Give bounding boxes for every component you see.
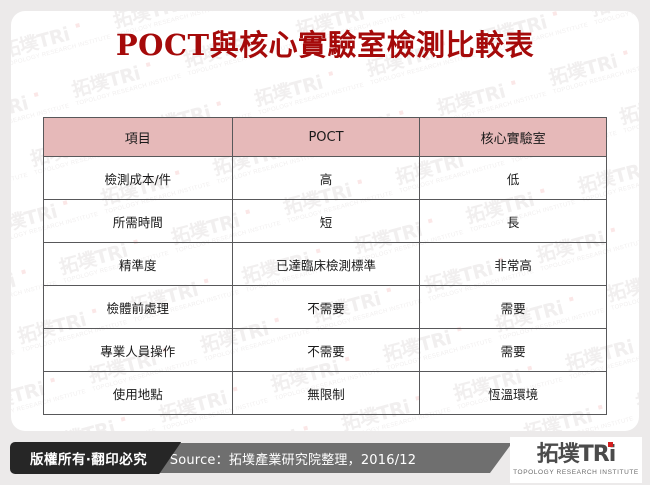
cell-item: 檢測成本/件 [44,157,233,200]
watermark-logo-icon: 拓墣TRiTOPOLOGY RESEARCH INSTITUTE [406,11,525,17]
cell-item: 檢體前處理 [44,286,233,329]
table-body: 檢測成本/件 高 低 所需時間 短 長 精準度 已達臨床檢測標準 非常高 檢體前… [44,157,607,415]
slide: 拓墣TRiTOPOLOGY RESEARCH INSTITUTE拓墣TRiTOP… [0,0,650,485]
table-row: 所需時間 短 長 [44,200,607,243]
cell-item: 使用地點 [44,372,233,415]
cell-poct: 無限制 [232,372,420,415]
column-header-core-lab: 核心實驗室 [420,118,607,157]
comparison-table: 項目 POCT 核心實驗室 檢測成本/件 高 低 所需時間 短 長 精準度 已達… [43,117,607,415]
cell-core-lab: 長 [420,200,607,243]
watermark-logo-icon: 拓墣TRiTOPOLOGY RESEARCH INSTITUTE [410,425,529,431]
cell-poct: 不需要 [232,286,420,329]
tri-logo: 拓墣TRi TOPOLOGY RESEARCH INSTITUTE [510,437,642,483]
cell-item: 所需時間 [44,200,233,243]
footer: Source：拓墣產業研究院整理，2016/12 版權所有‧翻印必究 拓墣TRi… [0,437,650,485]
table-row: 使用地點 無限制 恆溫環境 [44,372,607,415]
table-row: 精準度 已達臨床檢測標準 非常高 [44,243,607,286]
cell-poct: 已達臨床檢測標準 [232,243,420,286]
column-header-poct: POCT [232,118,420,157]
table-row: 專業人員操作 不需要 需要 [44,329,607,372]
cell-core-lab: 非常高 [420,243,607,286]
logo-wordmark: 拓墣TRi [537,444,616,466]
table-row: 檢體前處理 不需要 需要 [44,286,607,329]
watermark-logo-icon: 拓墣TRiTOPOLOGY RESEARCH INSTITUTE [618,80,639,135]
table-header: 項目 POCT 核心實驗室 [44,118,607,157]
logo-subtitle: TOPOLOGY RESEARCH INSTITUTE [513,469,639,476]
page-title: POCT與核心實驗室檢測比較表 [0,22,650,64]
source-text: Source：拓墣產業研究院整理，2016/12 [170,449,416,468]
cell-core-lab: 低 [420,157,607,200]
table-header-row: 項目 POCT 核心實驗室 [44,118,607,157]
column-header-item: 項目 [44,118,233,157]
cell-poct: 高 [232,157,420,200]
watermark-logo-icon: 拓墣TRiTOPOLOGY RESEARCH INSTITUTE [11,151,35,206]
cell-poct: 短 [232,200,420,243]
watermark-logo-icon: 拓墣TRiTOPOLOGY RESEARCH INSTITUTE [11,329,23,384]
cell-item: 精準度 [44,243,233,286]
watermark-logo-icon: 拓墣TRiTOPOLOGY RESEARCH INSTITUTE [605,257,639,312]
copyright-bar: 版權所有‧翻印必究 [10,442,181,474]
cell-core-lab: 需要 [420,286,607,329]
watermark-logo-icon: 拓墣TRiTOPOLOGY RESEARCH INSTITUTE [228,416,347,431]
logo-wordmark-text: 拓墣TRi [537,442,616,467]
watermark-logo-icon: 拓墣TRiTOPOLOGY RESEARCH INSTITUTE [253,61,372,116]
logo-dot-icon [608,442,613,447]
cell-item: 專業人員操作 [44,329,233,372]
cell-core-lab: 需要 [420,329,607,372]
table-row: 檢測成本/件 高 低 [44,157,607,200]
watermark-logo-icon: 拓墣TRiTOPOLOGY RESEARCH INSTITUTE [634,365,639,420]
cell-core-lab: 恆溫環境 [420,372,607,415]
cell-poct: 不需要 [232,329,420,372]
